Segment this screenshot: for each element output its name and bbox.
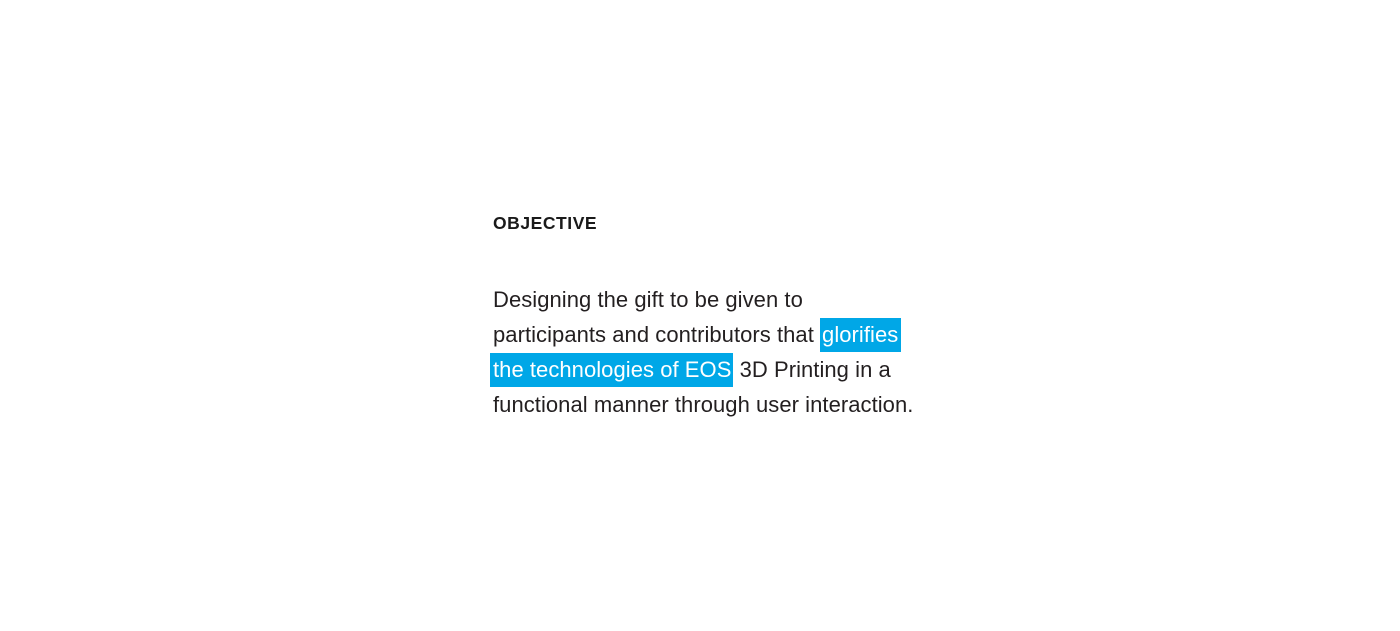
objective-paragraph: Designing the gift to be given to partic…	[493, 282, 933, 422]
highlighted-phrase-technologies-of-eos: the technologies of EOS	[490, 353, 733, 387]
paragraph-line-3: the technologies of EOS 3D Printing in a	[493, 352, 933, 387]
paragraph-line-1: Designing the gift to be given to	[493, 282, 933, 317]
paragraph-line-2: participants and contributors that glori…	[493, 317, 933, 352]
paragraph-line-4: functional manner through user interacti…	[493, 387, 933, 422]
paragraph-run-plain: Designing the gift to be given to	[493, 287, 803, 312]
paragraph-run-plain: 3D Printing in a	[733, 357, 890, 382]
page-title: OBJECTIVE	[493, 213, 1013, 234]
objective-content-block: OBJECTIVE Designing the gift to be given…	[493, 213, 1013, 422]
highlighted-phrase-glorifies: glorifies	[820, 318, 901, 352]
slide-canvas: OBJECTIVE Designing the gift to be given…	[0, 0, 1400, 631]
paragraph-run-plain: functional manner through user interacti…	[493, 392, 913, 417]
paragraph-run-plain: participants and contributors that	[493, 322, 820, 347]
